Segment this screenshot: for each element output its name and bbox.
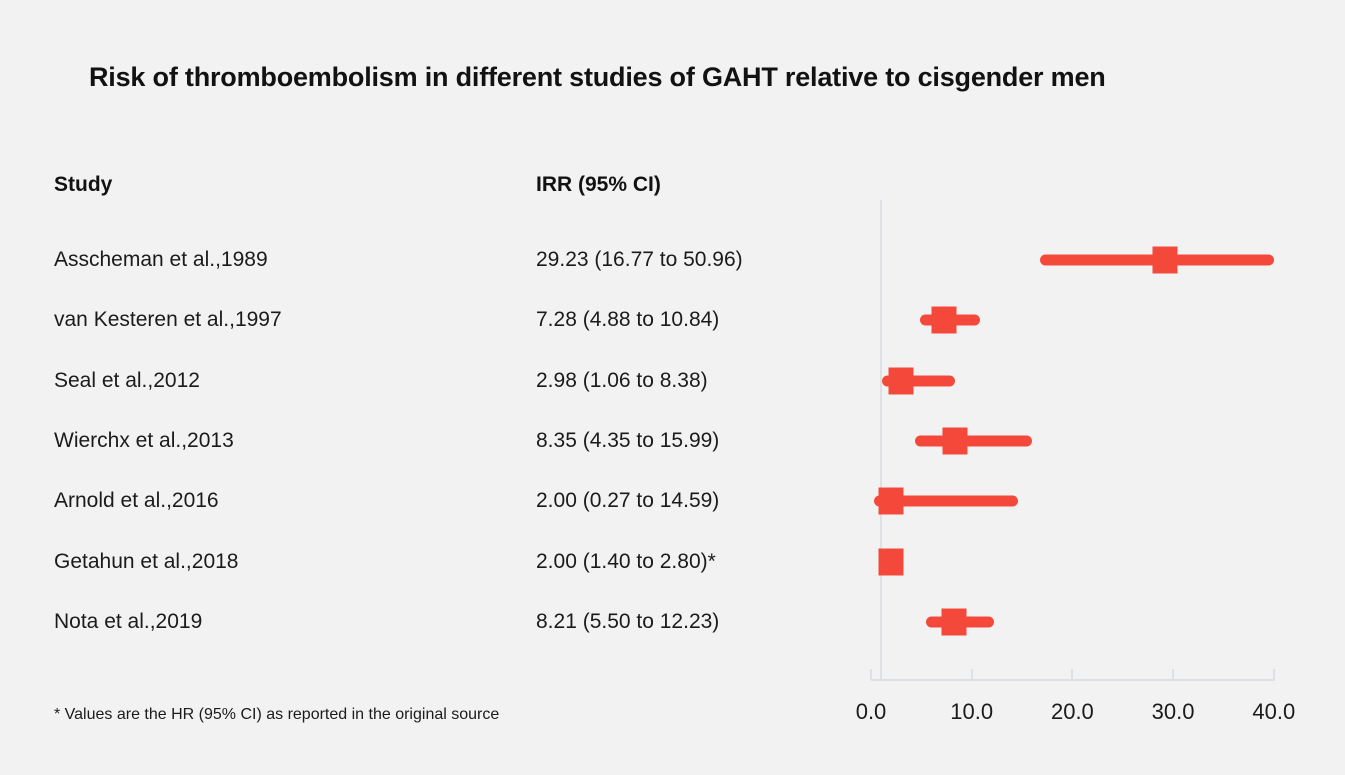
irr-value-cell: 8.21 (5.50 to 12.23) (536, 607, 719, 637)
irr-value-cell: 29.23 (16.77 to 50.96) (536, 245, 743, 275)
study-name-cell: Nota et al.,2019 (54, 607, 202, 637)
irr-value-cell: 2.98 (1.06 to 8.38) (536, 366, 708, 396)
study-table: Asscheman et al.,198929.23 (16.77 to 50.… (0, 0, 1345, 775)
study-name-cell: Wierchx et al.,2013 (54, 426, 234, 456)
study-name-cell: Arnold et al.,2016 (54, 486, 219, 516)
study-name-cell: Seal et al.,2012 (54, 366, 200, 396)
study-name-cell: Getahun et al.,2018 (54, 547, 238, 577)
irr-value-cell: 8.35 (4.35 to 15.99) (536, 426, 719, 456)
study-name-cell: Asscheman et al.,1989 (54, 245, 268, 275)
irr-value-cell: 2.00 (0.27 to 14.59) (536, 486, 719, 516)
forest-plot-figure: Risk of thromboembolism in different stu… (0, 0, 1345, 775)
irr-value-cell: 7.28 (4.88 to 10.84) (536, 305, 719, 335)
footnote: * Values are the HR (95% CI) as reported… (54, 706, 499, 724)
study-name-cell: van Kesteren et al.,1997 (54, 305, 282, 335)
irr-value-cell: 2.00 (1.40 to 2.80)* (536, 547, 716, 577)
